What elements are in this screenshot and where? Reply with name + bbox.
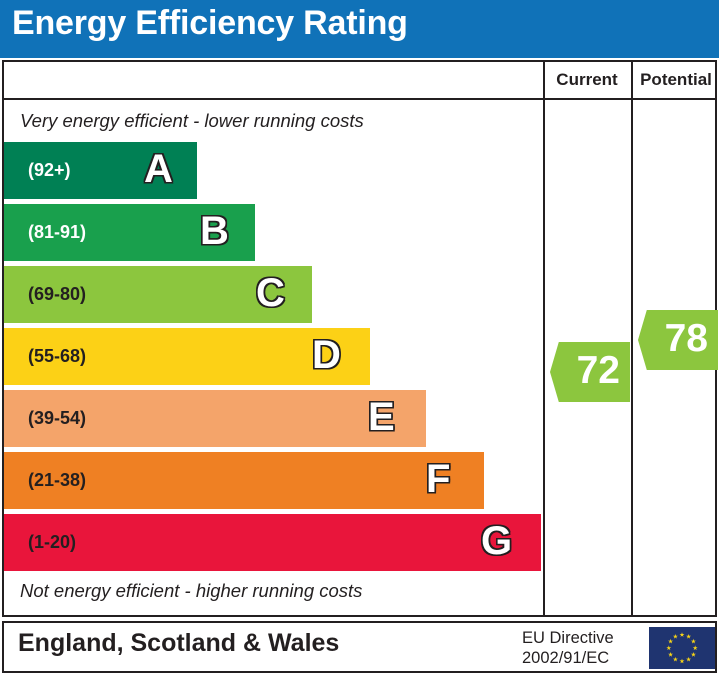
band-range-d: (55-68) [28,328,86,385]
footer-directive-line2: 2002/91/EC [522,648,614,668]
current-rating-marker: 72 [550,342,630,402]
band-row-a: (92+)A [4,142,197,199]
band-range-g: (1-20) [28,514,76,571]
band-letter-e: E [368,390,395,447]
band-range-b: (81-91) [28,204,86,261]
band-row-c: (69-80)C [4,266,312,323]
efficiency-note-top: Very energy efficient - lower running co… [20,110,364,132]
band-range-e: (39-54) [28,390,86,447]
column-header-row: Current Potential [4,62,715,100]
band-range-a: (92+) [28,142,71,199]
band-letter-g: G [481,514,512,571]
column-divider-current [543,62,545,615]
footer-directive: EU Directive 2002/91/EC [522,628,614,668]
band-letter-d: D [312,328,341,385]
band-letter-a: A [144,142,173,199]
band-row-f: (21-38)F [4,452,484,509]
band-row-b: (81-91)B [4,204,255,261]
band-letter-b: B [200,204,229,261]
band-row-g: (1-20)G [4,514,541,571]
footer-directive-line1: EU Directive [522,628,614,648]
rating-table: Current Potential Very energy efficient … [2,60,717,617]
band-range-c: (69-80) [28,266,86,323]
footer-region-label: England, Scotland & Wales [18,629,339,658]
current-rating-value: 72 [577,342,620,402]
efficiency-note-bottom: Not energy efficient - higher running co… [20,580,362,602]
column-header-potential: Potential [633,62,719,98]
potential-rating-marker: 78 [638,310,718,370]
band-letter-c: C [256,266,285,323]
band-chart: Very energy efficient - lower running co… [4,100,543,615]
footer-bar: England, Scotland & Wales EU Directive 2… [2,621,717,673]
header-bar: Energy Efficiency Rating [0,0,719,58]
column-divider-potential [631,62,633,615]
column-header-current: Current [543,62,631,98]
band-bar-g [4,514,541,571]
energy-efficiency-rating-certificate: Energy Efficiency Rating Current Potenti… [0,0,719,675]
band-letter-f: F [426,452,450,509]
eu-flag-icon [649,627,715,669]
page-title: Energy Efficiency Rating [12,4,408,43]
band-row-d: (55-68)D [4,328,370,385]
potential-rating-value: 78 [665,310,708,370]
band-list: (92+)A(81-91)B(69-80)C(55-68)D(39-54)E(2… [4,142,543,578]
band-row-e: (39-54)E [4,390,426,447]
band-range-f: (21-38) [28,452,86,509]
